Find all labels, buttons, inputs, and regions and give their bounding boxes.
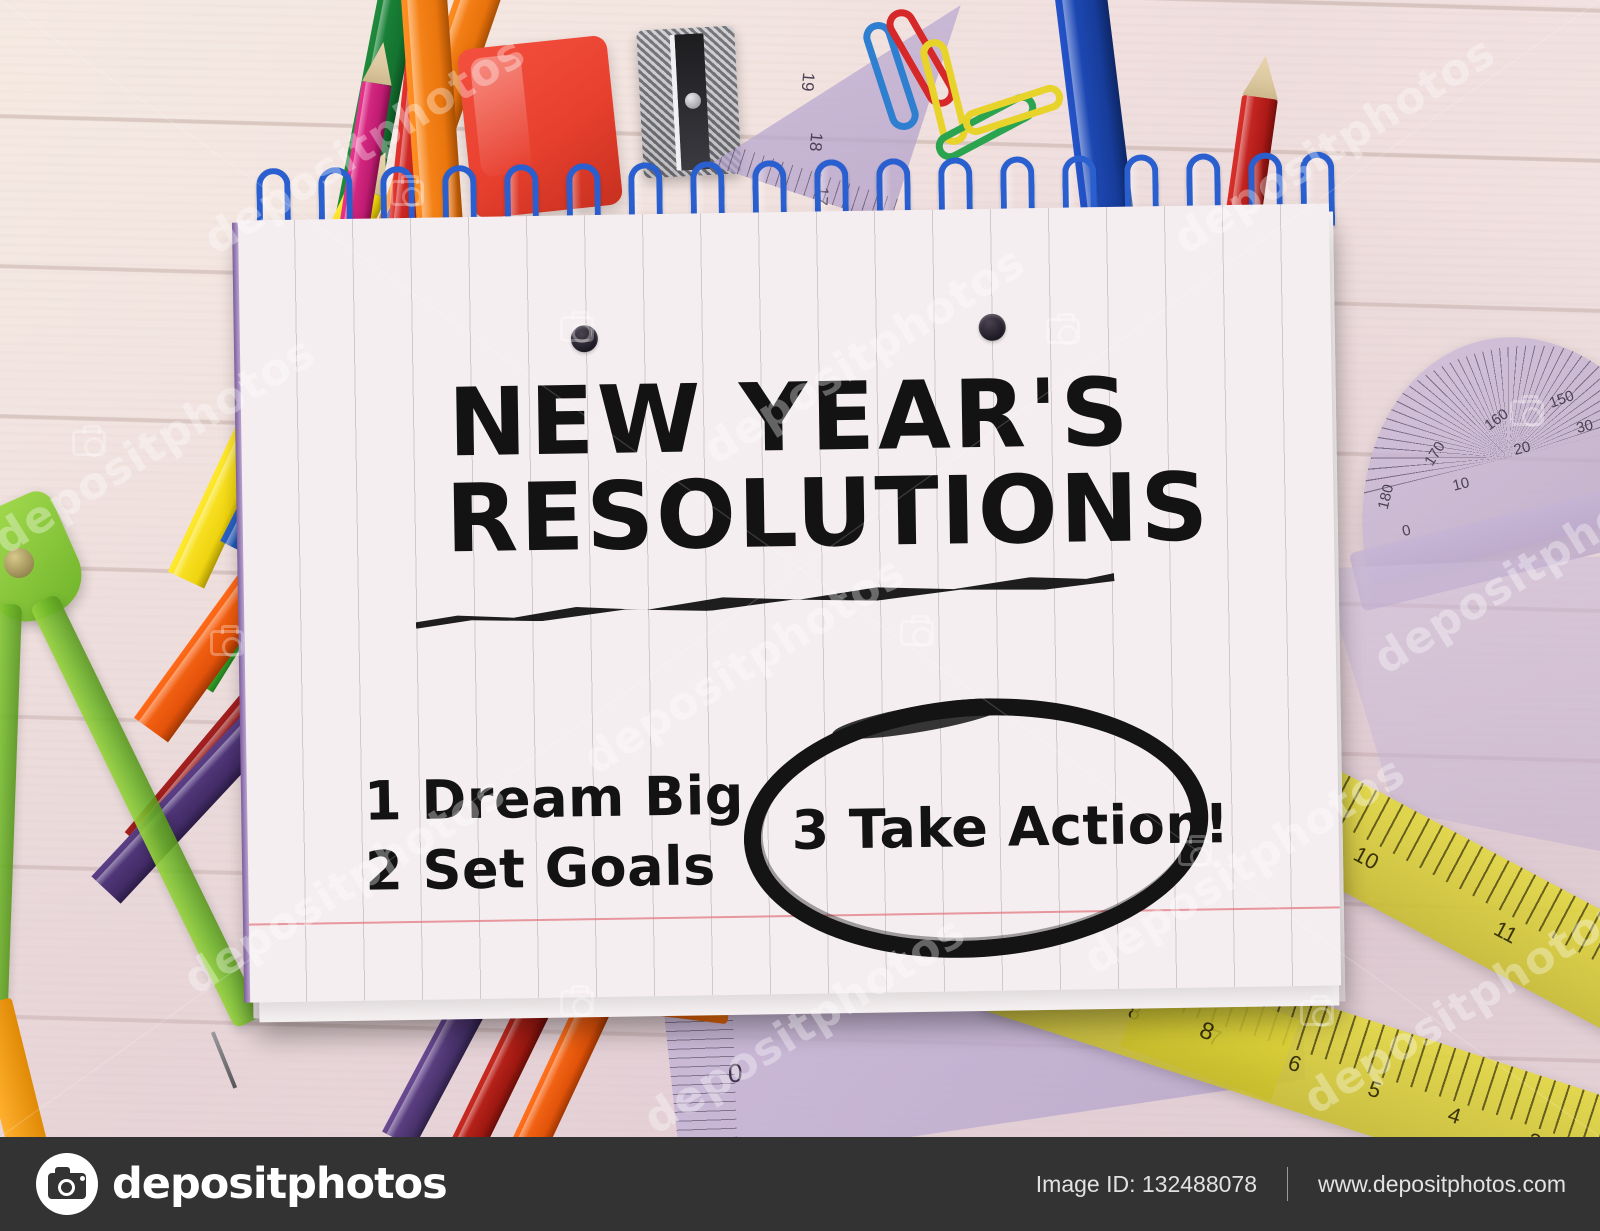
footer-bar: depositphotos Image ID: 132488078 www.de… — [0, 1137, 1600, 1231]
compass-pencil — [0, 997, 48, 1137]
resolution-item-3: 3 Take Action! — [791, 792, 1230, 862]
watermark-camera-icon — [72, 430, 106, 456]
compass-needle — [211, 1031, 237, 1088]
website-label[interactable]: www.depositphotos.com — [1318, 1171, 1566, 1198]
resolution-item-2: 2 Set Goals — [365, 834, 716, 902]
brand-wordmark: depositphotos — [112, 1159, 447, 1209]
brand-logo[interactable]: depositphotos — [36, 1153, 447, 1215]
resolution-item-1: 1 Dream Big — [364, 764, 745, 833]
triangle-ruler-zero-mark: 0 — [728, 1058, 742, 1089]
notepad: NEW YEAR'S RESOLUTIONS 1 Dream Big 2 Set… — [237, 189, 1347, 1011]
triangle-ruler-marks-2: 18 — [805, 132, 827, 153]
footer-meta: Image ID: 132488078 www.depositphotos.co… — [1036, 1167, 1566, 1201]
compass-screw — [4, 548, 34, 578]
protractor-deg-10: 10 — [1451, 474, 1471, 495]
footer-divider — [1287, 1167, 1288, 1201]
stock-photo: 19 18 17 180 170 160 150 0 10 20 30 0 — [0, 0, 1600, 1137]
image-id-label: Image ID: 132488078 — [1036, 1171, 1257, 1198]
camera-icon — [36, 1153, 98, 1215]
triangle-ruler-marks: 19 — [797, 72, 819, 93]
title-line-2: RESOLUTIONS — [445, 453, 1211, 574]
paperclip-yellow-2 — [960, 82, 1067, 139]
notepad-sheet: NEW YEAR'S RESOLUTIONS 1 Dream Big 2 Set… — [237, 204, 1341, 1003]
screenshot-root: 19 18 17 180 170 160 150 0 10 20 30 0 — [0, 0, 1600, 1231]
